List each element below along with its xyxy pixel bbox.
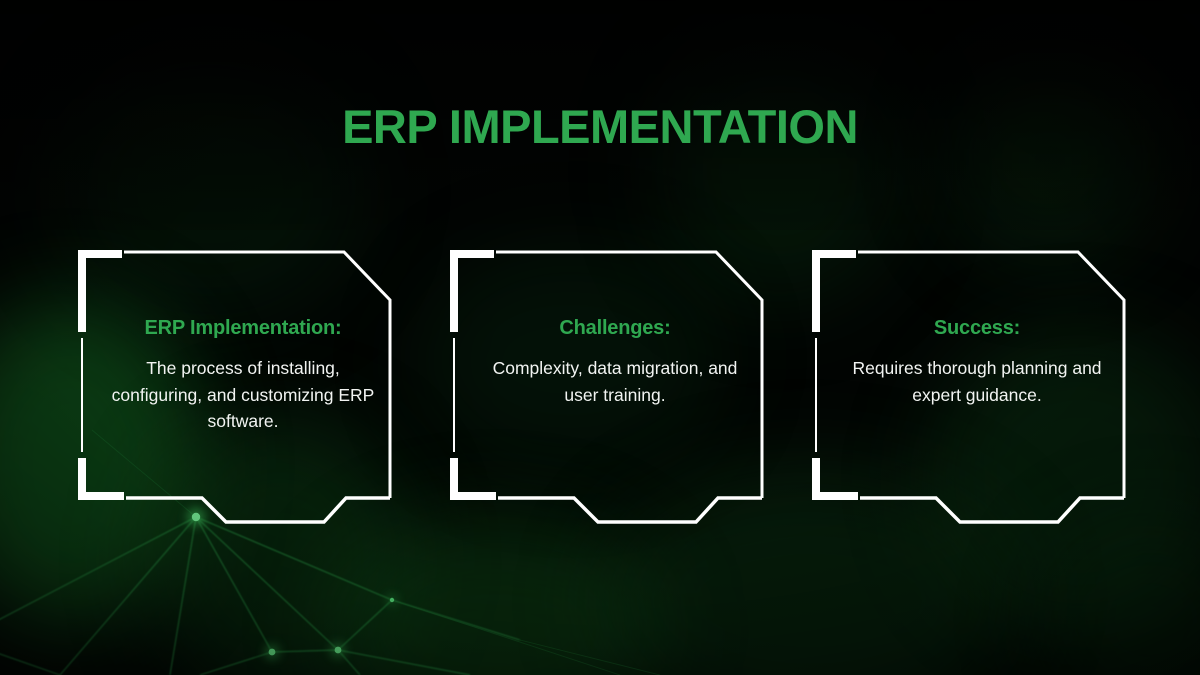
card-heading: Success: <box>838 316 1116 341</box>
card-description: Requires thorough planning and expert gu… <box>838 355 1116 408</box>
card-content: Challenges: Complexity, data migration, … <box>476 316 754 408</box>
slide: ERP IMPLEMENTATION ERP Im <box>0 0 1200 675</box>
info-card[interactable]: ERP Implementation: The process of insta… <box>78 248 408 538</box>
card-heading: Challenges: <box>476 316 754 341</box>
info-card[interactable]: Success: Requires thorough planning and … <box>812 248 1142 538</box>
card-content: Success: Requires thorough planning and … <box>838 316 1116 408</box>
card-description: The process of installing, configuring, … <box>104 355 382 435</box>
info-card[interactable]: Challenges: Complexity, data migration, … <box>450 248 780 538</box>
card-description: Complexity, data migration, and user tra… <box>476 355 754 408</box>
card-heading: ERP Implementation: <box>104 316 382 341</box>
card-content: ERP Implementation: The process of insta… <box>104 316 382 435</box>
card-row: ERP Implementation: The process of insta… <box>0 0 1200 675</box>
